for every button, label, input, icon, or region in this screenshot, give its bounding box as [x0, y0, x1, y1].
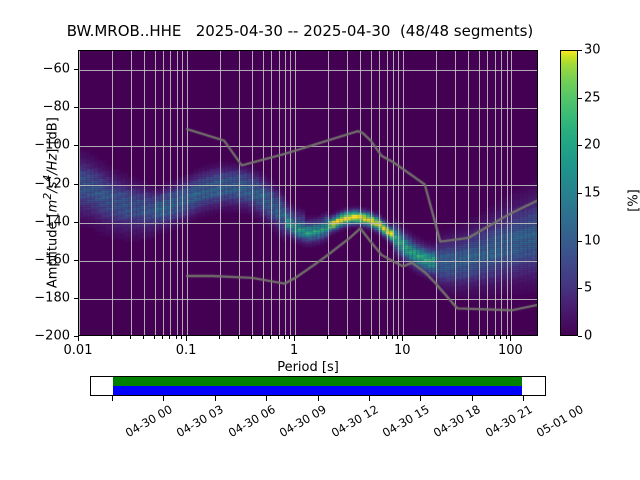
x-tick-minor [486, 336, 487, 339]
colorbar-tick-label: 25 [584, 90, 601, 105]
y-tick-major [74, 107, 79, 108]
colorbar-tick-label: 15 [584, 186, 601, 201]
y-axis-title-text: Amplitude [m2/s4/Hz] [dB] [46, 117, 61, 288]
ppsd-figure: BW.MROB..HHE 2025-04-30 -- 2025-04-30 (4… [0, 0, 640, 480]
x-tick-label: 0.01 [64, 343, 93, 358]
x-tick-minor [238, 336, 239, 339]
timeline-tick [112, 396, 113, 401]
x-tick-minor [169, 336, 170, 339]
colorbar [560, 50, 578, 336]
x-tick-label: 100 [498, 343, 523, 358]
x-tick-minor [467, 336, 468, 339]
x-axis-title: Period [s] [78, 360, 538, 375]
noise-model-curves [79, 51, 538, 336]
colorbar-tick [578, 145, 582, 146]
x-tick-major [294, 336, 295, 341]
x-tick-minor [500, 336, 501, 339]
x-tick-minor [370, 336, 371, 339]
x-tick-minor [284, 336, 285, 339]
x-tick-major [510, 336, 511, 341]
x-tick-minor [262, 336, 263, 339]
x-tick-minor [130, 336, 131, 339]
timeline-tick [215, 396, 216, 401]
x-tick-major [78, 336, 79, 341]
x-tick-minor [478, 336, 479, 339]
page-title: BW.MROB..HHE 2025-04-30 -- 2025-04-30 (4… [0, 22, 600, 40]
y-tick-major [74, 260, 79, 261]
colorbar-tick-label: 30 [584, 43, 601, 58]
colorbar-tick [578, 241, 582, 242]
colorbar-tick-label: 0 [584, 329, 592, 344]
y-axis-title: Amplitude [m2/s4/Hz] [dB] [41, 60, 60, 346]
x-tick-minor [397, 336, 398, 339]
timeline-tick [369, 396, 370, 401]
y-tick-major [74, 184, 79, 185]
timeline-tick-label: 04-30 15 [380, 402, 432, 440]
x-tick-minor [392, 336, 393, 339]
y-tick-major [74, 69, 79, 70]
segment-timeline [90, 376, 546, 396]
x-tick-minor [154, 336, 155, 339]
timeline-tick [523, 396, 524, 401]
timeline-tick-label: 04-30 00 [123, 402, 175, 440]
x-tick-major [402, 336, 403, 341]
colorbar-tick [578, 336, 582, 337]
x-tick-minor [435, 336, 436, 339]
x-tick-minor [327, 336, 328, 339]
colorbar-tick-label: 10 [584, 233, 601, 248]
timeline-tick-label: 04-30 03 [174, 402, 226, 440]
x-tick-minor [378, 336, 379, 339]
x-tick-minor [111, 336, 112, 339]
colorbar-tick-label: 5 [584, 281, 592, 296]
timeline-tick-label: 04-30 09 [277, 402, 329, 440]
x-tick-minor [289, 336, 290, 339]
x-tick-minor [506, 336, 507, 339]
timeline-tick-label: 04-30 12 [328, 402, 380, 440]
x-tick-minor [278, 336, 279, 339]
timeline-tick-label: 05-01 00 [534, 402, 586, 440]
x-tick-minor [219, 336, 220, 339]
timeline-tick [420, 396, 421, 401]
x-tick-minor [386, 336, 387, 339]
x-tick-label: 10 [394, 343, 411, 358]
colorbar-tick [578, 193, 582, 194]
x-tick-minor [162, 336, 163, 339]
y-tick-major [74, 145, 79, 146]
timeline-tick [472, 396, 473, 401]
x-tick-label: 0.1 [176, 343, 197, 358]
x-tick-minor [176, 336, 177, 339]
colorbar-tick [578, 288, 582, 289]
timeline-tick [163, 396, 164, 401]
x-tick-minor [181, 336, 182, 339]
x-tick-minor [251, 336, 252, 339]
x-tick-label: 1 [290, 343, 298, 358]
x-tick-minor [454, 336, 455, 339]
x-tick-minor [270, 336, 271, 339]
colorbar-tick [578, 98, 582, 99]
timeline-tick-label: 04-30 18 [431, 402, 483, 440]
colorbar-tick-label: 20 [584, 138, 601, 153]
x-tick-minor [359, 336, 360, 339]
timeline-tick-label: 04-30 06 [226, 402, 278, 440]
ppsd-axes [78, 50, 538, 336]
x-tick-minor [346, 336, 347, 339]
x-tick-minor [494, 336, 495, 339]
y-tick-major [74, 222, 79, 223]
colorbar-title: [%] [627, 171, 640, 231]
x-tick-major [186, 336, 187, 341]
colorbar-tick [578, 50, 582, 51]
timeline-tick [266, 396, 267, 401]
timeline-tick-label: 04-30 21 [483, 402, 535, 440]
timeline-tick [318, 396, 319, 401]
timeline-segment-green [113, 377, 522, 386]
y-tick-major [74, 336, 79, 337]
timeline-segment-blue [113, 386, 522, 395]
x-tick-minor [143, 336, 144, 339]
y-tick-major [74, 298, 79, 299]
